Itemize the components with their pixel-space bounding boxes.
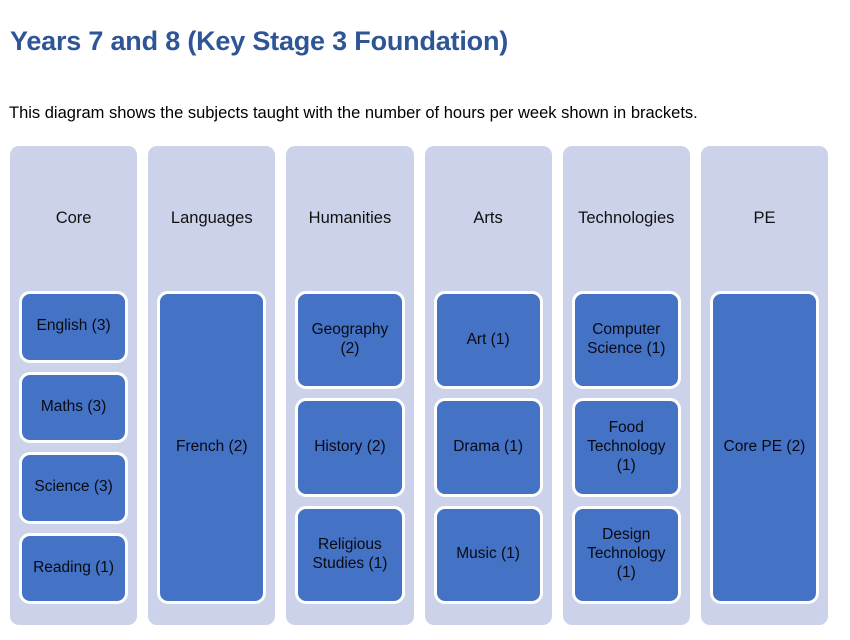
subject-list: French (2) (157, 291, 266, 625)
subject-card[interactable]: Geography (2) (295, 291, 404, 389)
subject-list: Computer Science (1)Food Technology (1)D… (572, 291, 681, 625)
subject-list: English (3)Maths (3)Science (3)Reading (… (19, 291, 128, 625)
category-header: Core (19, 146, 128, 291)
subject-card[interactable]: French (2) (157, 291, 266, 604)
category-column-technologies: TechnologiesComputer Science (1)Food Tec… (563, 146, 690, 625)
subject-card[interactable]: History (2) (295, 398, 404, 496)
subject-card[interactable]: Computer Science (1) (572, 291, 681, 389)
category-column-pe: PECore PE (2) (701, 146, 828, 625)
subject-card[interactable]: Design Technology (1) (572, 506, 681, 604)
subject-card[interactable]: Drama (1) (434, 398, 543, 496)
subject-card[interactable]: Music (1) (434, 506, 543, 604)
category-header: PE (710, 146, 819, 291)
subject-list: Geography (2)History (2)Religious Studie… (295, 291, 404, 625)
subject-card[interactable]: Reading (1) (19, 533, 128, 605)
subject-list: Art (1)Drama (1)Music (1) (434, 291, 543, 625)
category-header: Technologies (572, 146, 681, 291)
category-column-languages: LanguagesFrench (2) (148, 146, 275, 625)
subject-card[interactable]: Food Technology (1) (572, 398, 681, 496)
subject-card[interactable]: English (3) (19, 291, 128, 363)
subject-card[interactable]: Art (1) (434, 291, 543, 389)
curriculum-diagram: CoreEnglish (3)Maths (3)Science (3)Readi… (10, 146, 828, 625)
subject-card[interactable]: Core PE (2) (710, 291, 819, 604)
category-header: Languages (157, 146, 266, 291)
intro-description: This diagram shows the subjects taught w… (9, 102, 809, 125)
subject-list: Core PE (2) (710, 291, 819, 625)
category-column-arts: ArtsArt (1)Drama (1)Music (1) (425, 146, 552, 625)
category-header: Arts (434, 146, 543, 291)
subject-card[interactable]: Maths (3) (19, 372, 128, 444)
category-column-core: CoreEnglish (3)Maths (3)Science (3)Readi… (10, 146, 137, 625)
page-title: Years 7 and 8 (Key Stage 3 Foundation) (10, 26, 508, 57)
subject-card[interactable]: Science (3) (19, 452, 128, 524)
category-header: Humanities (295, 146, 404, 291)
subject-card[interactable]: Religious Studies (1) (295, 506, 404, 604)
category-column-humanities: HumanitiesGeography (2)History (2)Religi… (286, 146, 413, 625)
